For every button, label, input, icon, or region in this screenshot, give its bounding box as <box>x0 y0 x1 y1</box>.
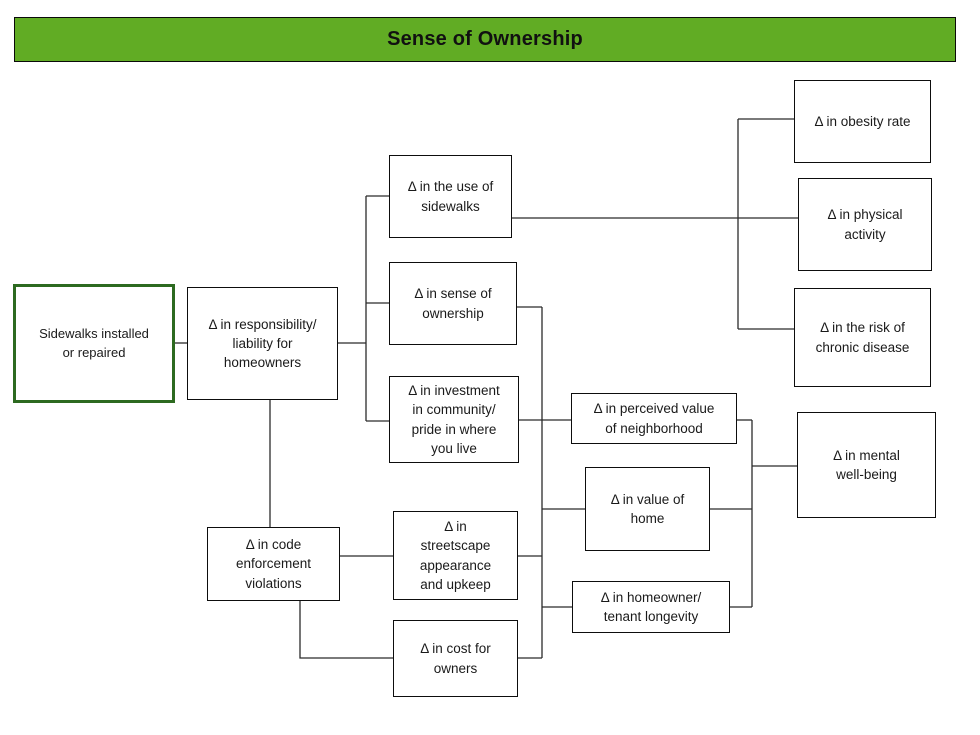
diagram-canvas: Sense of Ownership Sidewalks installed o… <box>0 0 980 735</box>
node-cost-for-owners[interactable]: Δ in cost for owners <box>393 620 518 697</box>
node-label-use-of-sidewalks: Δ in the use of sidewalks <box>408 177 494 215</box>
node-label-code-enforcement: Δ in code enforcement violations <box>236 535 311 592</box>
node-physical-activity[interactable]: Δ in physical activity <box>798 178 932 271</box>
connector-code-down-to-cost <box>300 601 393 658</box>
node-investment-community[interactable]: Δ in investment in community/ pride in w… <box>389 376 519 463</box>
node-streetscape-appearance[interactable]: Δ in streetscape appearance and upkeep <box>393 511 518 600</box>
node-sense-of-ownership[interactable]: Δ in sense of ownership <box>389 262 517 345</box>
node-sidewalks-installed[interactable]: Sidewalks installed or repaired <box>13 284 175 403</box>
node-label-responsibility-liability: Δ in responsibility/ liability for homeo… <box>208 315 316 372</box>
node-label-risk-chronic-disease: Δ in the risk of chronic disease <box>816 318 910 356</box>
node-responsibility-liability[interactable]: Δ in responsibility/ liability for homeo… <box>187 287 338 400</box>
node-label-perceived-value-neighborhood: Δ in perceived value of neighborhood <box>594 399 715 437</box>
node-label-obesity-rate: Δ in obesity rate <box>814 112 910 131</box>
node-risk-chronic-disease[interactable]: Δ in the risk of chronic disease <box>794 288 931 387</box>
node-obesity-rate[interactable]: Δ in obesity rate <box>794 80 931 163</box>
node-label-mental-well-being: Δ in mental well-being <box>833 446 900 484</box>
title-banner: Sense of Ownership <box>14 17 956 62</box>
node-value-of-home[interactable]: Δ in value of home <box>585 467 710 551</box>
node-label-sidewalks-installed: Sidewalks installed or repaired <box>39 325 149 362</box>
node-label-value-of-home: Δ in value of home <box>611 490 685 528</box>
node-code-enforcement[interactable]: Δ in code enforcement violations <box>207 527 340 601</box>
node-label-physical-activity: Δ in physical activity <box>827 205 902 243</box>
node-label-investment-community: Δ in investment in community/ pride in w… <box>408 381 500 458</box>
node-homeowner-longevity[interactable]: Δ in homeowner/ tenant longevity <box>572 581 730 633</box>
node-label-homeowner-longevity: Δ in homeowner/ tenant longevity <box>601 588 702 626</box>
node-use-of-sidewalks[interactable]: Δ in the use of sidewalks <box>389 155 512 238</box>
node-mental-well-being[interactable]: Δ in mental well-being <box>797 412 936 518</box>
node-label-streetscape-appearance: Δ in streetscape appearance and upkeep <box>420 517 491 594</box>
node-label-cost-for-owners: Δ in cost for owners <box>420 639 491 677</box>
node-label-sense-of-ownership: Δ in sense of ownership <box>414 284 491 322</box>
node-perceived-value-neighborhood[interactable]: Δ in perceived value of neighborhood <box>571 393 737 444</box>
page-title: Sense of Ownership <box>387 28 583 51</box>
